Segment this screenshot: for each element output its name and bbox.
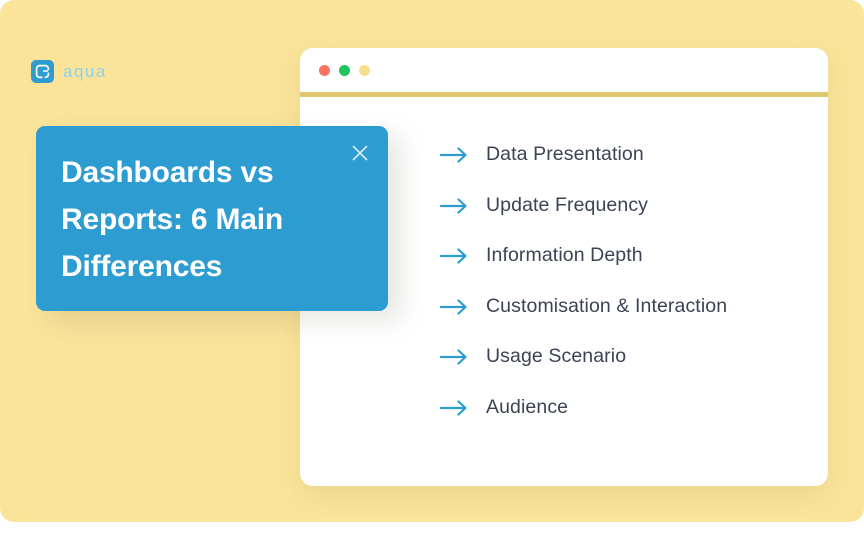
window-titlebar — [300, 48, 828, 92]
arrow-right-icon — [440, 247, 470, 265]
list-item-label: Update Frequency — [486, 196, 648, 216]
page-title: Dashboards vs Reports: 6 Main Difference… — [61, 149, 341, 290]
arrow-right-icon — [440, 146, 470, 164]
arrow-right-icon — [440, 399, 470, 417]
brand-logo[interactable]: aqua — [31, 60, 107, 83]
list-item-label: Audience — [486, 398, 568, 418]
list-item-label: Information Depth — [486, 246, 643, 266]
list-item[interactable]: Information Depth — [440, 245, 727, 267]
aqua-logo-mark-icon — [31, 60, 54, 83]
window-maximize-dot-icon[interactable] — [359, 65, 370, 76]
arrow-right-icon — [440, 348, 470, 366]
list-item-label: Customisation & Interaction — [486, 297, 727, 317]
screenshot-root: aqua Data Presentation — [0, 0, 864, 533]
differences-list: Data Presentation Update Frequency Infor… — [440, 144, 727, 419]
list-item[interactable]: Data Presentation — [440, 144, 727, 166]
list-item[interactable]: Customisation & Interaction — [440, 296, 727, 318]
list-item-label: Data Presentation — [486, 145, 644, 165]
list-item[interactable]: Audience — [440, 397, 727, 419]
list-item[interactable]: Usage Scenario — [440, 346, 727, 368]
brand-name: aqua — [63, 63, 107, 80]
arrow-right-icon — [440, 197, 470, 215]
window-minimize-dot-icon[interactable] — [339, 65, 350, 76]
window-close-dot-icon[interactable] — [319, 65, 330, 76]
close-icon[interactable] — [349, 142, 371, 164]
list-item[interactable]: Update Frequency — [440, 195, 727, 217]
arrow-right-icon — [440, 298, 470, 316]
list-item-label: Usage Scenario — [486, 347, 626, 367]
title-card: Dashboards vs Reports: 6 Main Difference… — [36, 126, 388, 311]
